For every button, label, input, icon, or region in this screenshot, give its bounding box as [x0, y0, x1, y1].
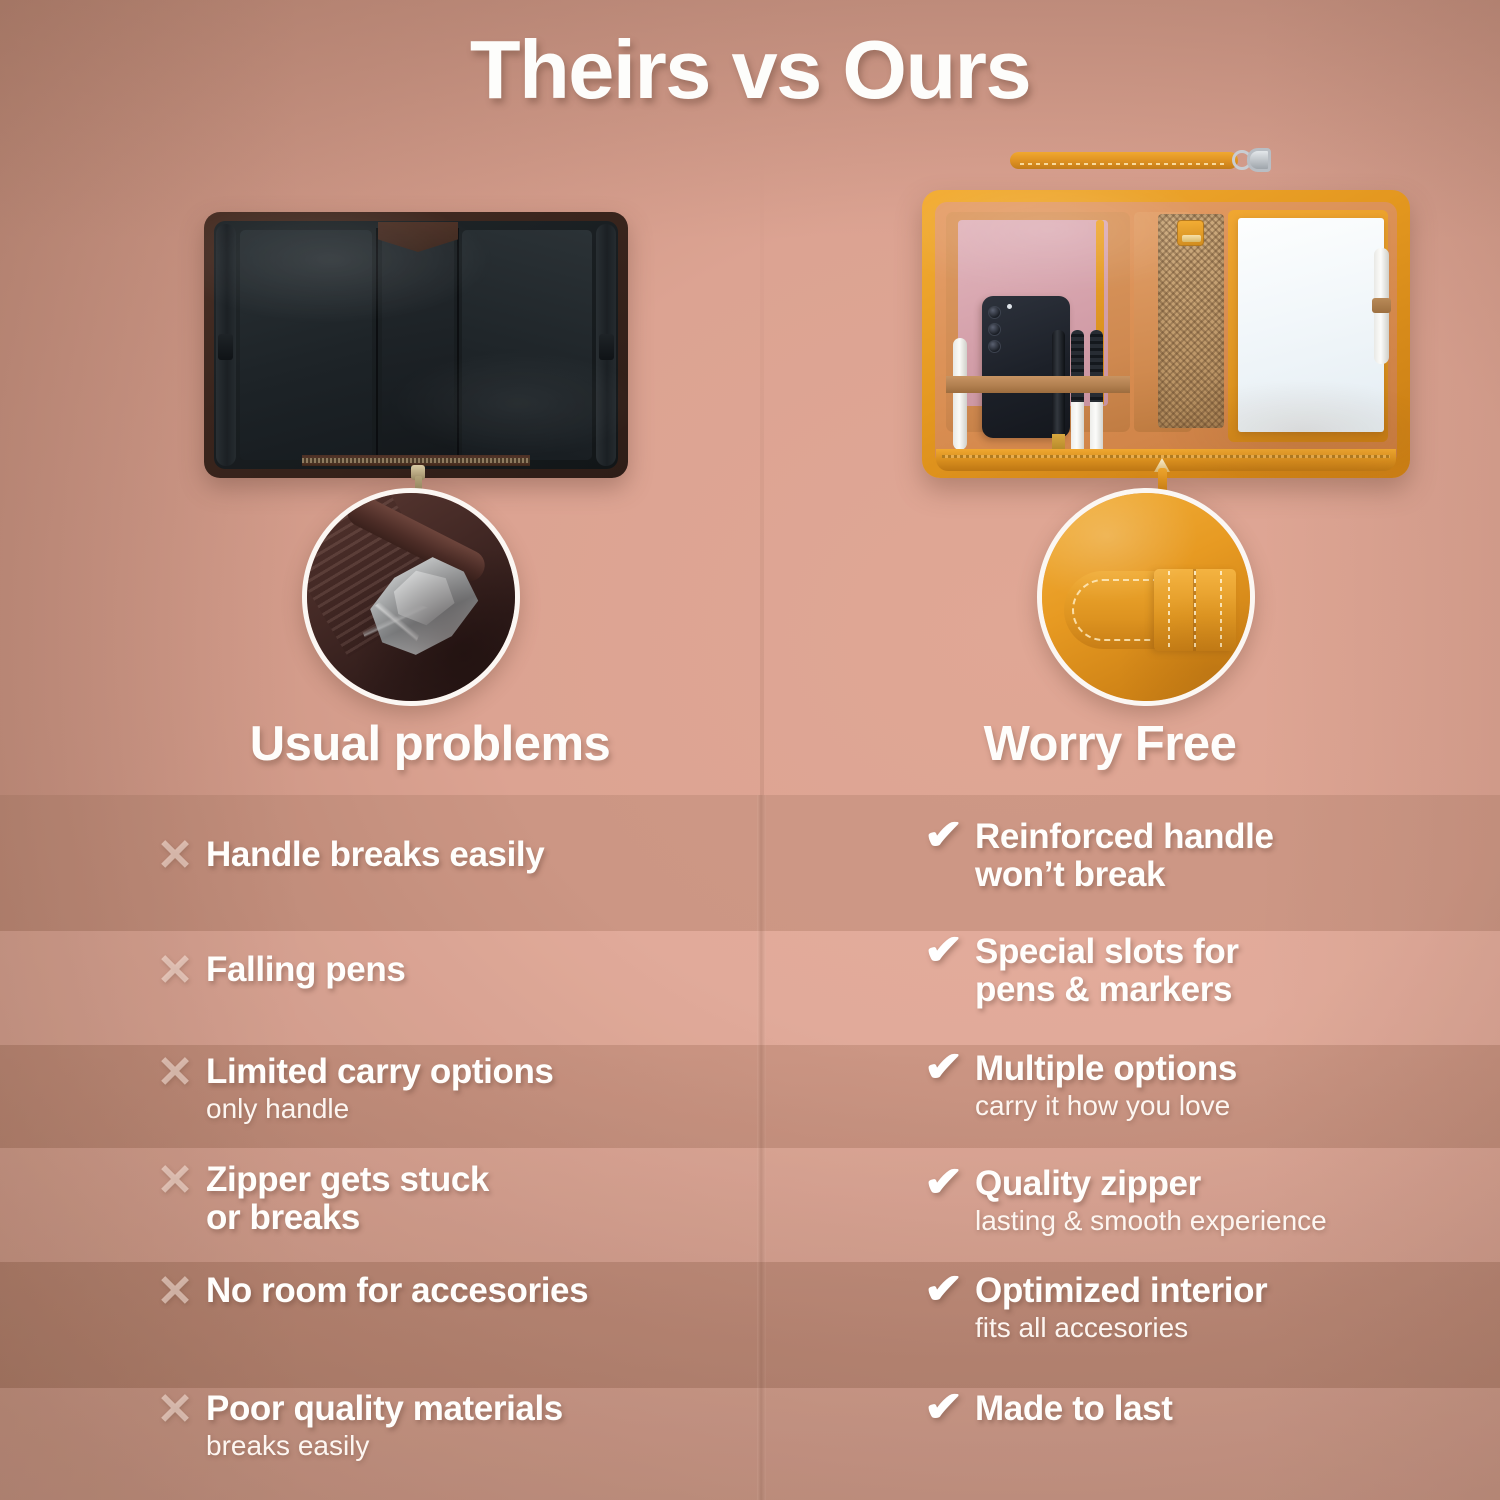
cross-icon: ✕: [144, 1272, 206, 1316]
white-marker-left: [953, 338, 967, 450]
list-item: ✔ Optimized interior fits all accesories: [913, 1272, 1473, 1344]
strap-clasp-icon: [1247, 148, 1271, 172]
feature-title: Quality zipper: [975, 1165, 1473, 1203]
page-title: Theirs vs Ours: [0, 22, 1500, 118]
wrist-strap: [1010, 148, 1272, 174]
cross-icon: ✕: [144, 1053, 206, 1097]
broken-handle-closeup: [302, 488, 520, 706]
feature-title: Special slots for pens & markers: [975, 933, 1473, 1009]
cross-icon: ✕: [144, 1390, 206, 1434]
section-heading-right: Worry Free: [770, 716, 1450, 772]
list-item: ✔ Quality zipper lasting & smooth experi…: [913, 1165, 1473, 1237]
elastic-strap: [946, 376, 1130, 393]
marker-two: [1090, 330, 1103, 456]
feature-subtitle: only handle: [206, 1093, 754, 1125]
black-pen: [1052, 330, 1065, 456]
feature-title: Made to last: [975, 1390, 1473, 1428]
list-item: ✕ Poor quality materials breaks easily: [144, 1390, 754, 1462]
orange-leather-portfolio-open: [922, 190, 1410, 478]
check-icon: ✔: [913, 1272, 975, 1314]
list-item: ✔ Made to last: [913, 1390, 1473, 1432]
check-icon: ✔: [913, 933, 975, 975]
feature-title: Zipper gets stuck or breaks: [206, 1161, 754, 1237]
feature-title: Multiple options: [975, 1050, 1473, 1088]
feature-title: Optimized interior: [975, 1272, 1473, 1310]
list-item: ✔ Special slots for pens & markers: [913, 933, 1473, 1009]
clasp-icon: [1177, 220, 1204, 246]
list-item: ✕ Falling pens: [144, 951, 754, 995]
side-tab-left: [218, 334, 233, 360]
feature-title: Reinforced handle won’t break: [975, 818, 1473, 894]
column-divider-upper: [760, 150, 764, 795]
feature-title: Poor quality materials: [206, 1390, 754, 1428]
check-icon: ✔: [913, 818, 975, 860]
check-icon: ✔: [913, 1165, 975, 1207]
mesh-pocket: [1158, 214, 1224, 428]
marker-one: [1071, 330, 1084, 456]
cross-icon: ✕: [144, 1161, 206, 1205]
feature-title: No room for accesories: [206, 1272, 754, 1310]
feature-subtitle: lasting & smooth experience: [975, 1205, 1473, 1237]
feature-subtitle: fits all accesories: [975, 1312, 1473, 1344]
list-item: ✔ Reinforced handle won’t break: [913, 818, 1473, 894]
notepad: [1238, 218, 1384, 432]
cross-icon: ✕: [144, 951, 206, 995]
feature-subtitle: breaks easily: [206, 1430, 754, 1462]
reinforced-handle-closeup: [1037, 488, 1255, 706]
list-item: ✔ Multiple options carry it how you love: [913, 1050, 1473, 1122]
feature-title: Falling pens: [206, 951, 754, 989]
black-nylon-portfolio-open: [204, 212, 628, 478]
list-item: ✕ Limited carry options only handle: [144, 1053, 754, 1125]
side-tab-right: [599, 334, 614, 360]
list-item: ✕ Zipper gets stuck or breaks: [144, 1161, 754, 1237]
feature-title: Handle breaks easily: [206, 836, 754, 874]
section-heading-left: Usual problems: [90, 716, 770, 772]
cross-icon: ✕: [144, 836, 206, 880]
list-item: ✕ Handle breaks easily: [144, 836, 754, 880]
check-icon: ✔: [913, 1050, 975, 1092]
feature-title: Limited carry options: [206, 1053, 754, 1091]
feature-subtitle: carry it how you love: [975, 1090, 1473, 1122]
column-divider: [757, 795, 766, 1500]
list-item: ✕ No room for accesories: [144, 1272, 754, 1316]
check-icon: ✔: [913, 1390, 975, 1432]
